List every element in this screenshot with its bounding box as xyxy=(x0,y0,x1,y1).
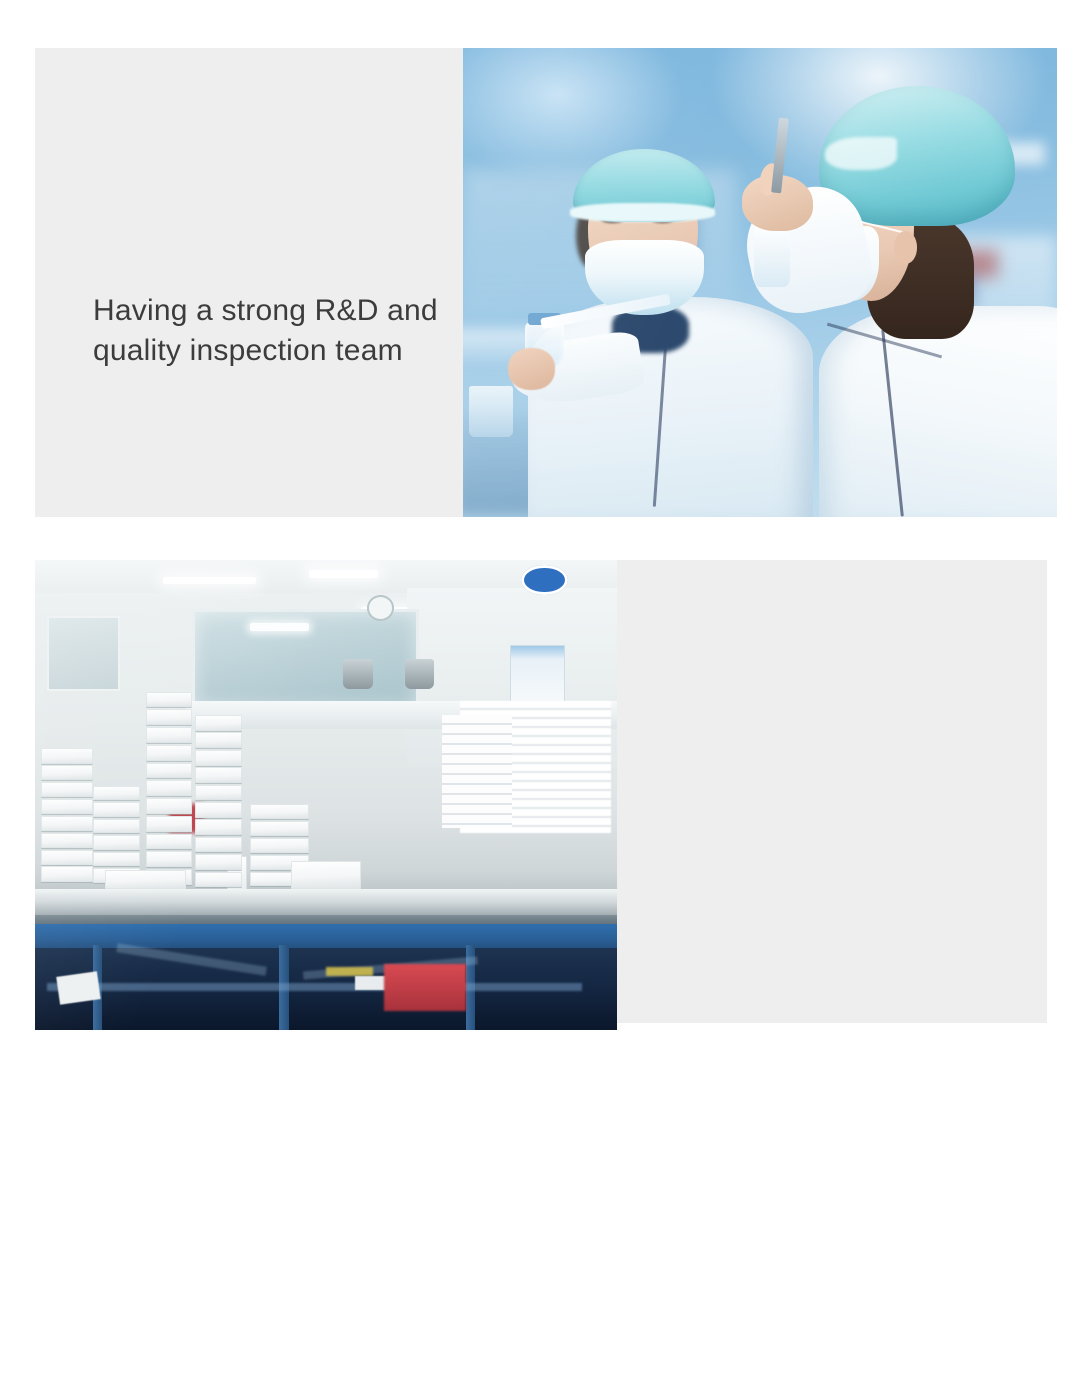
yellow-floor-marking xyxy=(326,967,373,976)
carton-flat-2 xyxy=(105,870,186,889)
top-text-panel: Having a strong R&D and quality inspecti… xyxy=(35,48,463,517)
carton-stack-4 xyxy=(195,715,242,889)
lab-technician-right-hairnet-fold xyxy=(825,137,896,170)
notice-board xyxy=(510,645,564,708)
lab-technician-left-hand xyxy=(508,348,556,390)
carton-flat-1 xyxy=(291,861,361,889)
bottom-text-panel: a warehouse distribution area a warehous… xyxy=(617,560,1047,1023)
warehouse-packing-photo xyxy=(35,560,617,1030)
top-caption-line-2: quality inspection team xyxy=(93,334,403,367)
lab-beaker xyxy=(469,386,514,438)
steel-container-2 xyxy=(405,659,434,690)
top-caption-line-1: Having a strong R&D and xyxy=(93,294,438,327)
cleanroom-window-left xyxy=(47,616,121,691)
lab-vial xyxy=(754,226,790,287)
paper-scrap-1 xyxy=(57,971,101,1005)
wall-clock xyxy=(367,595,394,621)
red-item-front xyxy=(384,964,465,1011)
lab-technician-right-ear xyxy=(894,231,918,264)
ceiling-light-2 xyxy=(309,570,379,578)
ceiling-light-1 xyxy=(163,577,256,585)
top-caption: Having a strong R&D and quality inspecti… xyxy=(93,291,438,370)
carton-stack-back-center xyxy=(442,715,512,828)
under-table-shelf xyxy=(47,983,582,991)
carton-stack-3 xyxy=(146,692,193,889)
page-canvas: Having a strong R&D and quality inspecti… xyxy=(0,0,1080,1080)
cleanroom-window-light xyxy=(250,623,308,631)
steel-container-1 xyxy=(343,659,372,690)
company-logo-sign xyxy=(521,565,568,596)
lab-technician-left-hairnet-brim xyxy=(570,203,716,222)
carton-stack-1 xyxy=(41,748,93,889)
lab-inspection-photo xyxy=(463,48,1057,517)
